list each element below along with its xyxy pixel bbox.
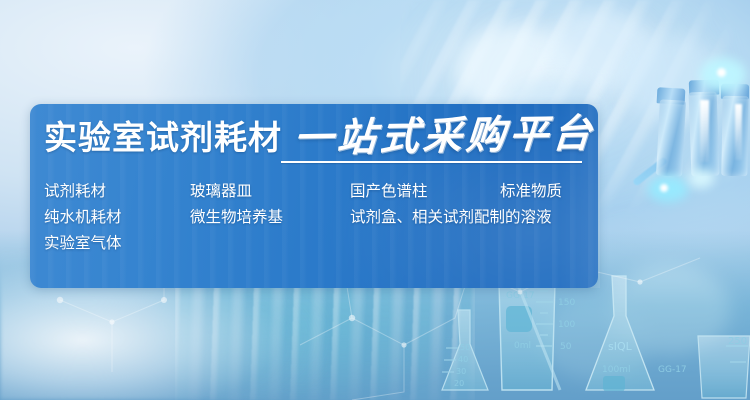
category-list: 试剂耗材 玻璃器皿 国产色谱柱 标准物质 纯水机耗材 微生物培养基 试剂盒、相关… <box>44 180 596 258</box>
category-item-reagent-consumables[interactable]: 试剂耗材 <box>44 180 106 202</box>
category-item-reference-materials[interactable]: 标准物质 <box>500 180 562 202</box>
category-item-kits-and-prepared-solutions[interactable]: 试剂盒、相关试剂配制的溶液 <box>350 206 552 228</box>
headline: 实验室试剂耗材一站式采购平台 <box>44 116 595 158</box>
headline-main-text: 实验室试剂耗材 <box>44 118 282 158</box>
headline-script-text: 一站式采购平台 <box>292 113 596 158</box>
category-item-lab-gases[interactable]: 实验室气体 <box>44 232 122 254</box>
category-row: 纯水机耗材 微生物培养基 试剂盒、相关试剂配制的溶液 <box>44 206 596 232</box>
category-row: 实验室气体 <box>44 232 596 258</box>
category-item-glassware[interactable]: 玻璃器皿 <box>190 180 252 202</box>
headline-panel: 实验室试剂耗材一站式采购平台 试剂耗材 玻璃器皿 国产色谱柱 标准物质 纯水机耗… <box>30 104 598 288</box>
promo-banner: 250 APPROX 200 150 100 50 GG-17 0ml 50 4… <box>0 0 750 400</box>
category-item-microbial-culture-media[interactable]: 微生物培养基 <box>190 206 283 228</box>
headline-underline <box>281 161 582 163</box>
category-row: 试剂耗材 玻璃器皿 国产色谱柱 标准物质 <box>44 180 596 206</box>
category-item-water-purifier-consumables[interactable]: 纯水机耗材 <box>44 206 122 228</box>
category-item-domestic-chromatography-column[interactable]: 国产色谱柱 <box>350 180 428 202</box>
